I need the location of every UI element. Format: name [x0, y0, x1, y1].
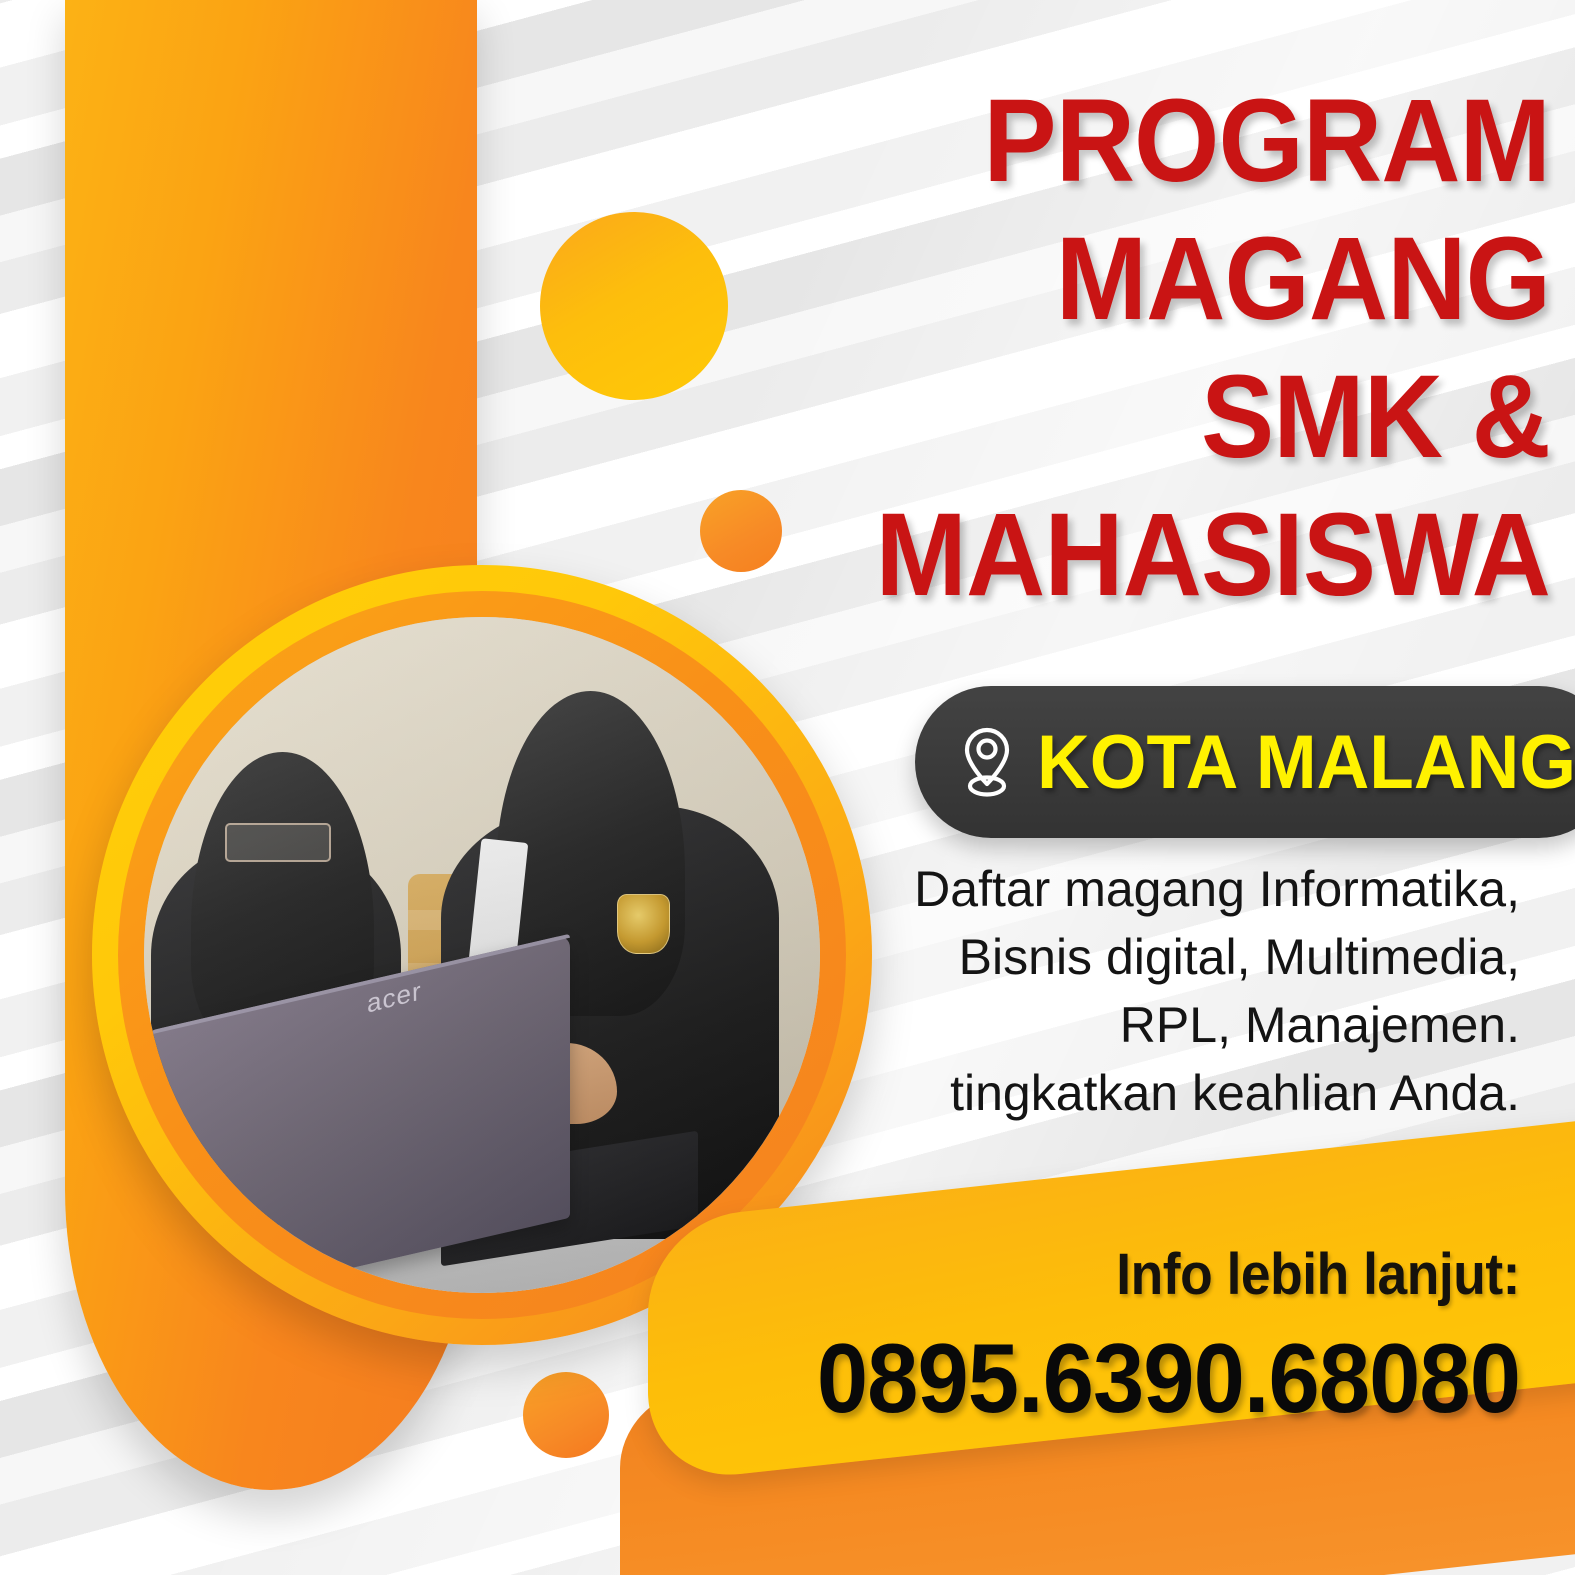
location-pin-icon — [959, 726, 1015, 798]
location-badge-label: KOTA MALANG — [1037, 719, 1575, 806]
contact-label: Info lebih lanjut: — [784, 1242, 1520, 1308]
description-line-2: Bisnis digital, Multimedia, — [820, 923, 1520, 991]
decorative-circle-yellow-large — [540, 212, 728, 400]
contact-phone-number[interactable]: 0895.6390.68080 — [768, 1322, 1520, 1434]
headline-line-1: PROGRAM — [815, 72, 1550, 210]
description-line-1: Daftar magang Informatika, — [820, 855, 1520, 923]
description-line-3: RPL, Manajemen. — [820, 991, 1520, 1059]
photo-student-left-glasses — [225, 823, 330, 862]
description-paragraph: Daftar magang Informatika, Bisnis digita… — [820, 855, 1520, 1127]
location-badge: KOTA MALANG — [915, 686, 1575, 838]
poster-canvas: acer PROGRAM MAGANG SMK & MAHASISWA KOTA… — [0, 0, 1575, 1575]
decorative-circle-orange-small-bottom — [523, 1372, 609, 1458]
photo-school-emblem-patch — [617, 894, 670, 953]
page-title: PROGRAM MAGANG SMK & MAHASISWA — [760, 72, 1550, 624]
contact-info: Info lebih lanjut: 0895.6390.68080 — [720, 1242, 1520, 1434]
headline-line-2: MAGANG — [815, 210, 1550, 348]
headline-line-3: SMK & — [815, 348, 1550, 486]
headline-line-4: MAHASISWA — [815, 486, 1550, 624]
photo-students-at-laptop: acer — [144, 617, 820, 1293]
description-line-4: tingkatkan keahlian Anda. — [820, 1059, 1520, 1127]
